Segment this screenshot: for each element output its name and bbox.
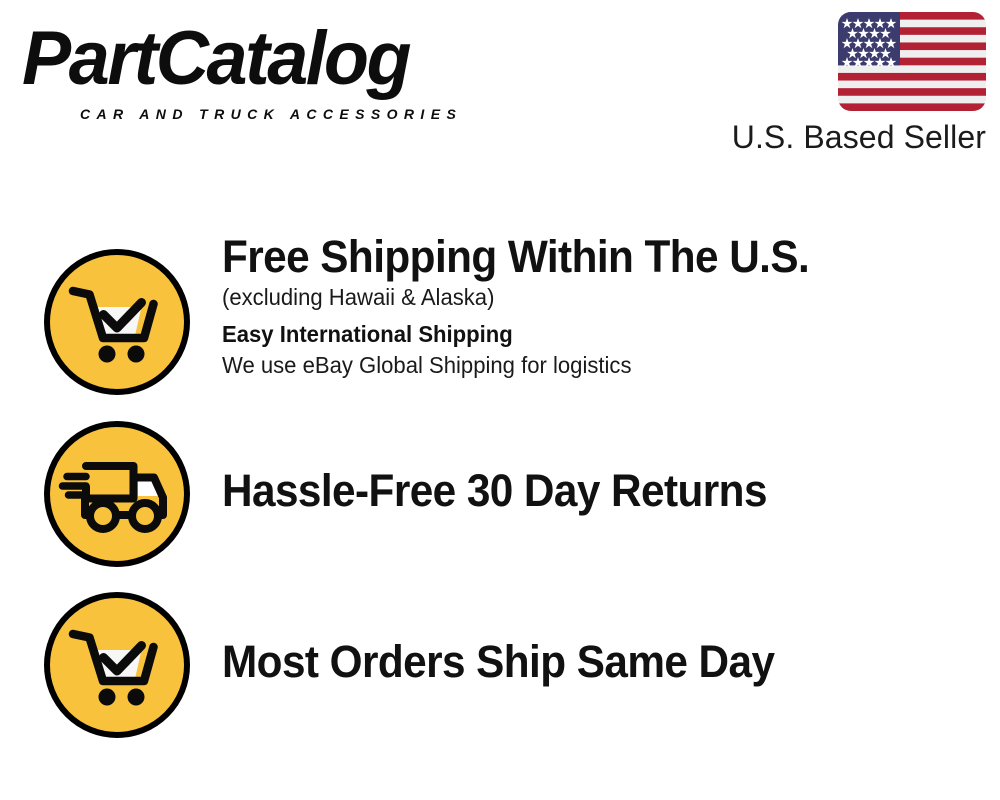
feature-text-free-shipping: Free Shipping Within The U.S. (excluding… [222,232,952,381]
feature-text-same-day: Most Orders Ship Same Day [222,637,952,687]
feature-title: Most Orders Ship Same Day [222,637,908,687]
feature-text-returns: Hassle-Free 30 Day Returns [222,466,952,516]
feature-title: Hassle-Free 30 Day Returns [222,466,908,516]
us-based-seller-label: U.S. Based Seller [0,118,986,156]
feature-subnote: We use eBay Global Shipping for logistic… [222,350,923,381]
feature-title: Free Shipping Within The U.S. [222,232,908,282]
shopping-cart-check-icon [41,589,193,741]
promo-banner: PartCatalog CAR AND TRUCK ACCESSORIES [0,0,1000,800]
brand-logo: PartCatalog CAR AND TRUCK ACCESSORIES [22,20,492,120]
shopping-cart-check-icon [41,246,193,398]
us-flag-icon [838,12,986,111]
delivery-truck-icon [41,418,193,570]
feature-note: (excluding Hawaii & Alaska) [222,282,923,313]
brand-wordmark: PartCatalog [22,20,478,98]
feature-subtitle: Easy International Shipping [222,319,923,350]
